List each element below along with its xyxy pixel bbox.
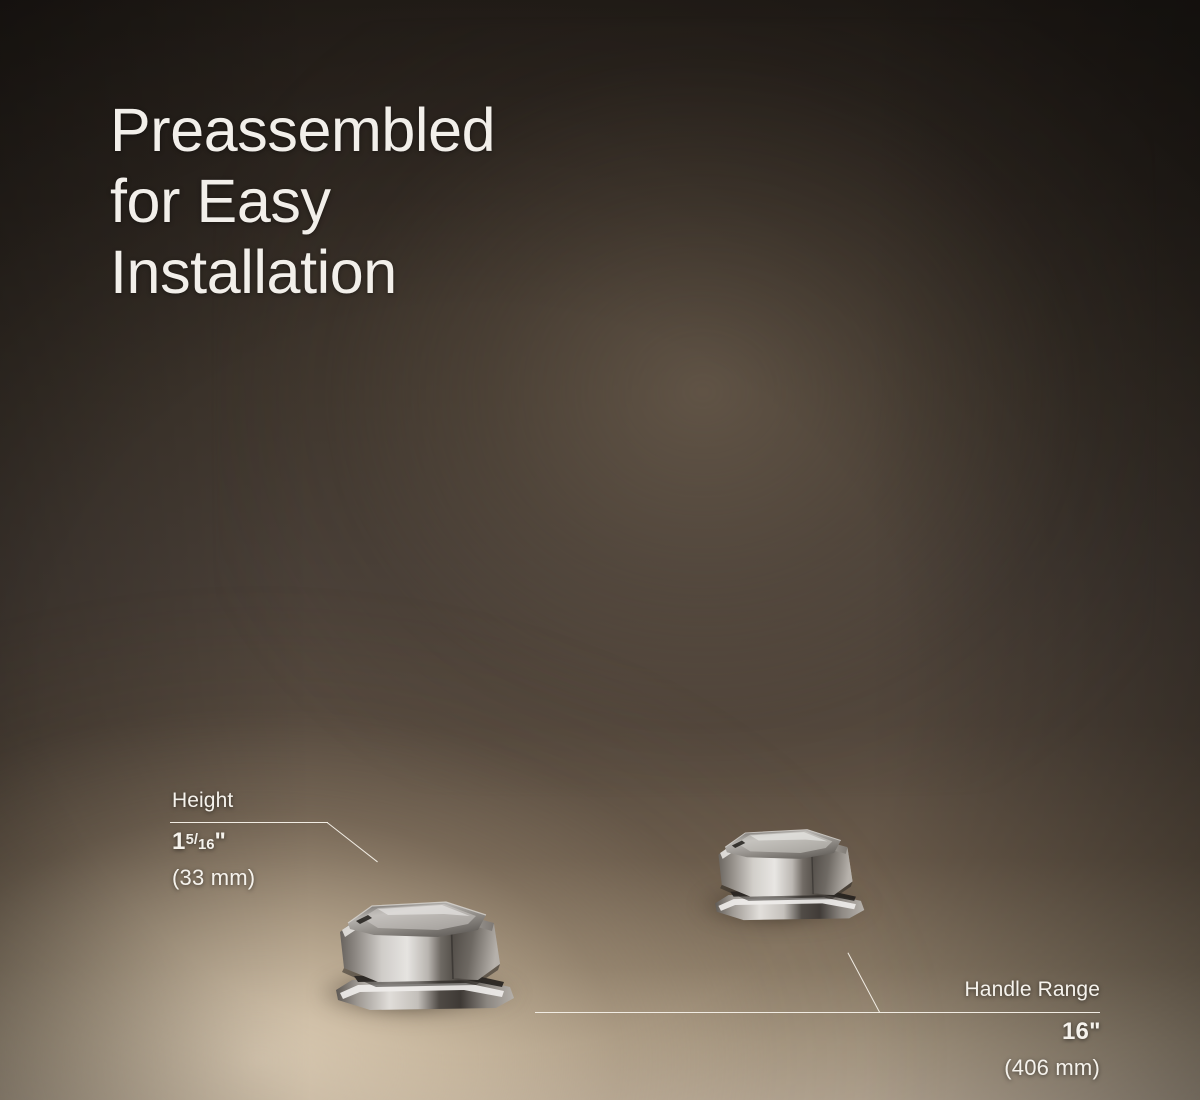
height-value: 15/16" [172, 828, 255, 856]
handle-geometry-left [318, 890, 528, 1025]
height-metric: (33 mm) [172, 865, 255, 891]
handle-range-value-block: 16" (406 mm) [700, 1018, 1100, 1081]
handle-range-value-unit: " [1089, 1018, 1100, 1045]
handle-range-metric: (406 mm) [700, 1055, 1100, 1081]
spacer [700, 1046, 1100, 1055]
handle-range-value: 16" [700, 1018, 1100, 1046]
handle-range-value-whole: 16 [1062, 1018, 1089, 1045]
handle-range-label: Handle Range [700, 978, 1100, 1002]
handle-geometry-right [700, 818, 876, 935]
product-feature-image: Preassembled for Easy Installation [0, 0, 1200, 1100]
height-callout: Height [172, 789, 233, 813]
headline-text: Preassembled for Easy Installation [110, 95, 495, 307]
height-value-block: 15/16" (33 mm) [172, 828, 255, 891]
height-value-whole: 1 [172, 828, 186, 855]
height-value-fraction: 5/16 [186, 832, 215, 848]
height-fraction-numerator: 5 [186, 832, 194, 848]
height-leader-horizontal [170, 822, 328, 823]
faucet-handle-right [700, 818, 876, 930]
spacer [172, 856, 255, 865]
handle-range-callout: Handle Range [700, 978, 1100, 1002]
height-label: Height [172, 789, 233, 813]
faucet-handle-left [318, 890, 528, 1020]
height-value-unit: " [215, 828, 226, 855]
height-fraction-denominator: 16 [198, 837, 215, 853]
handle-range-leader-horizontal [535, 1012, 1100, 1013]
